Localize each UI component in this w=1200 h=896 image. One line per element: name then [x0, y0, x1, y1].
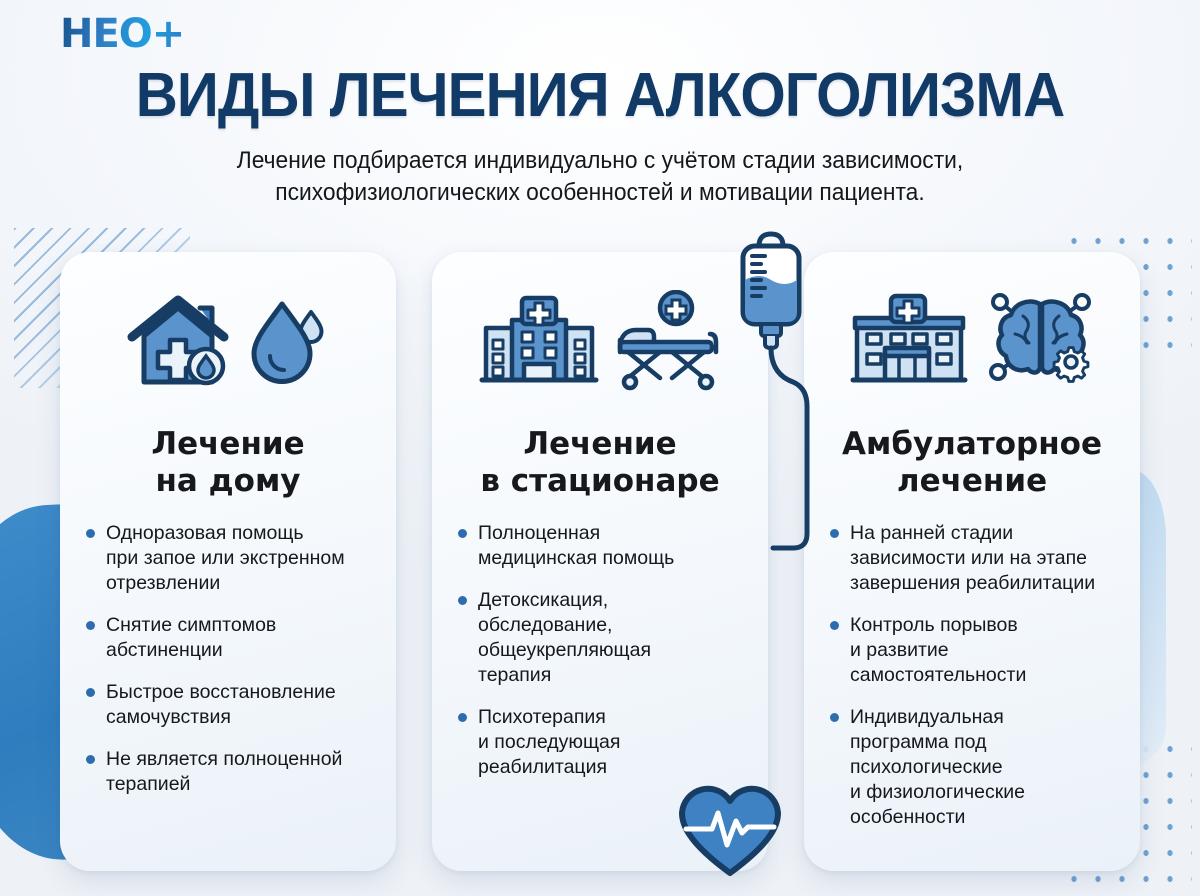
brand-logo: НЕО+ [60, 14, 184, 54]
list-item: Индивидуальная программа под психологиче… [830, 705, 1118, 830]
list-item: На ранней стадии зависимости или на этап… [830, 521, 1118, 596]
card-title: Лечение на дому [78, 426, 378, 499]
house-medical-cross-icon [122, 290, 234, 394]
treatment-cards: Лечение на дому Одноразовая помощь при з… [0, 252, 1200, 871]
card-title: Лечение в стационаре [450, 426, 750, 499]
hospital-building-icon [478, 290, 600, 394]
card-bullet-list: Полноценная медицинская помощь Детоксика… [450, 521, 750, 780]
water-drop-icon [248, 290, 334, 394]
card-bullet-list: На ранней стадии зависимости или на этап… [822, 521, 1122, 829]
list-item: Психотерапия и последующая реабилитация [458, 705, 746, 780]
hospital-gurney-icon [614, 290, 722, 394]
infographic-poster: НЕО+ ВИДЫ ЛЕЧЕНИЯ АЛКОГОЛИЗМА Лечение по… [0, 0, 1200, 896]
card-inpatient-treatment: Лечение в стационаре Полноценная медицин… [432, 252, 768, 871]
list-item: Снятие симптомов абстиненции [86, 613, 374, 663]
list-item: Полноценная медицинская помощь [458, 521, 746, 571]
clinic-building-icon [847, 290, 971, 394]
card-icon-group [450, 278, 750, 406]
page-title: ВИДЫ ЛЕЧЕНИЯ АЛКОГОЛИЗМА [36, 60, 1164, 131]
card-icon-group [822, 278, 1122, 406]
list-item: Контроль порывов и развитие самостоятель… [830, 613, 1118, 688]
card-icon-group [78, 278, 378, 406]
card-outpatient-treatment: Амбулаторное лечение На ранней стадии за… [804, 252, 1140, 871]
card-title: Амбулаторное лечение [822, 426, 1122, 499]
list-item: Быстрое восстановление самочувствия [86, 680, 374, 730]
brain-gear-icon [985, 290, 1097, 394]
list-item: Одноразовая помощь при запое или экстрен… [86, 521, 374, 596]
list-item: Детоксикация, обследование, общеукрепляю… [458, 588, 746, 688]
iv-drip-icon [735, 228, 831, 558]
list-item: Не является полноценной терапией [86, 747, 374, 797]
card-bullet-list: Одноразовая помощь при запое или экстрен… [78, 521, 378, 797]
card-home-treatment: Лечение на дому Одноразовая помощь при з… [60, 252, 396, 871]
poster-header: НЕО+ ВИДЫ ЛЕЧЕНИЯ АЛКОГОЛИЗМА Лечение по… [0, 0, 1200, 210]
page-subtitle: Лечение подбирается индивидуально с учёт… [125, 145, 1075, 210]
heart-pulse-icon [678, 783, 782, 879]
